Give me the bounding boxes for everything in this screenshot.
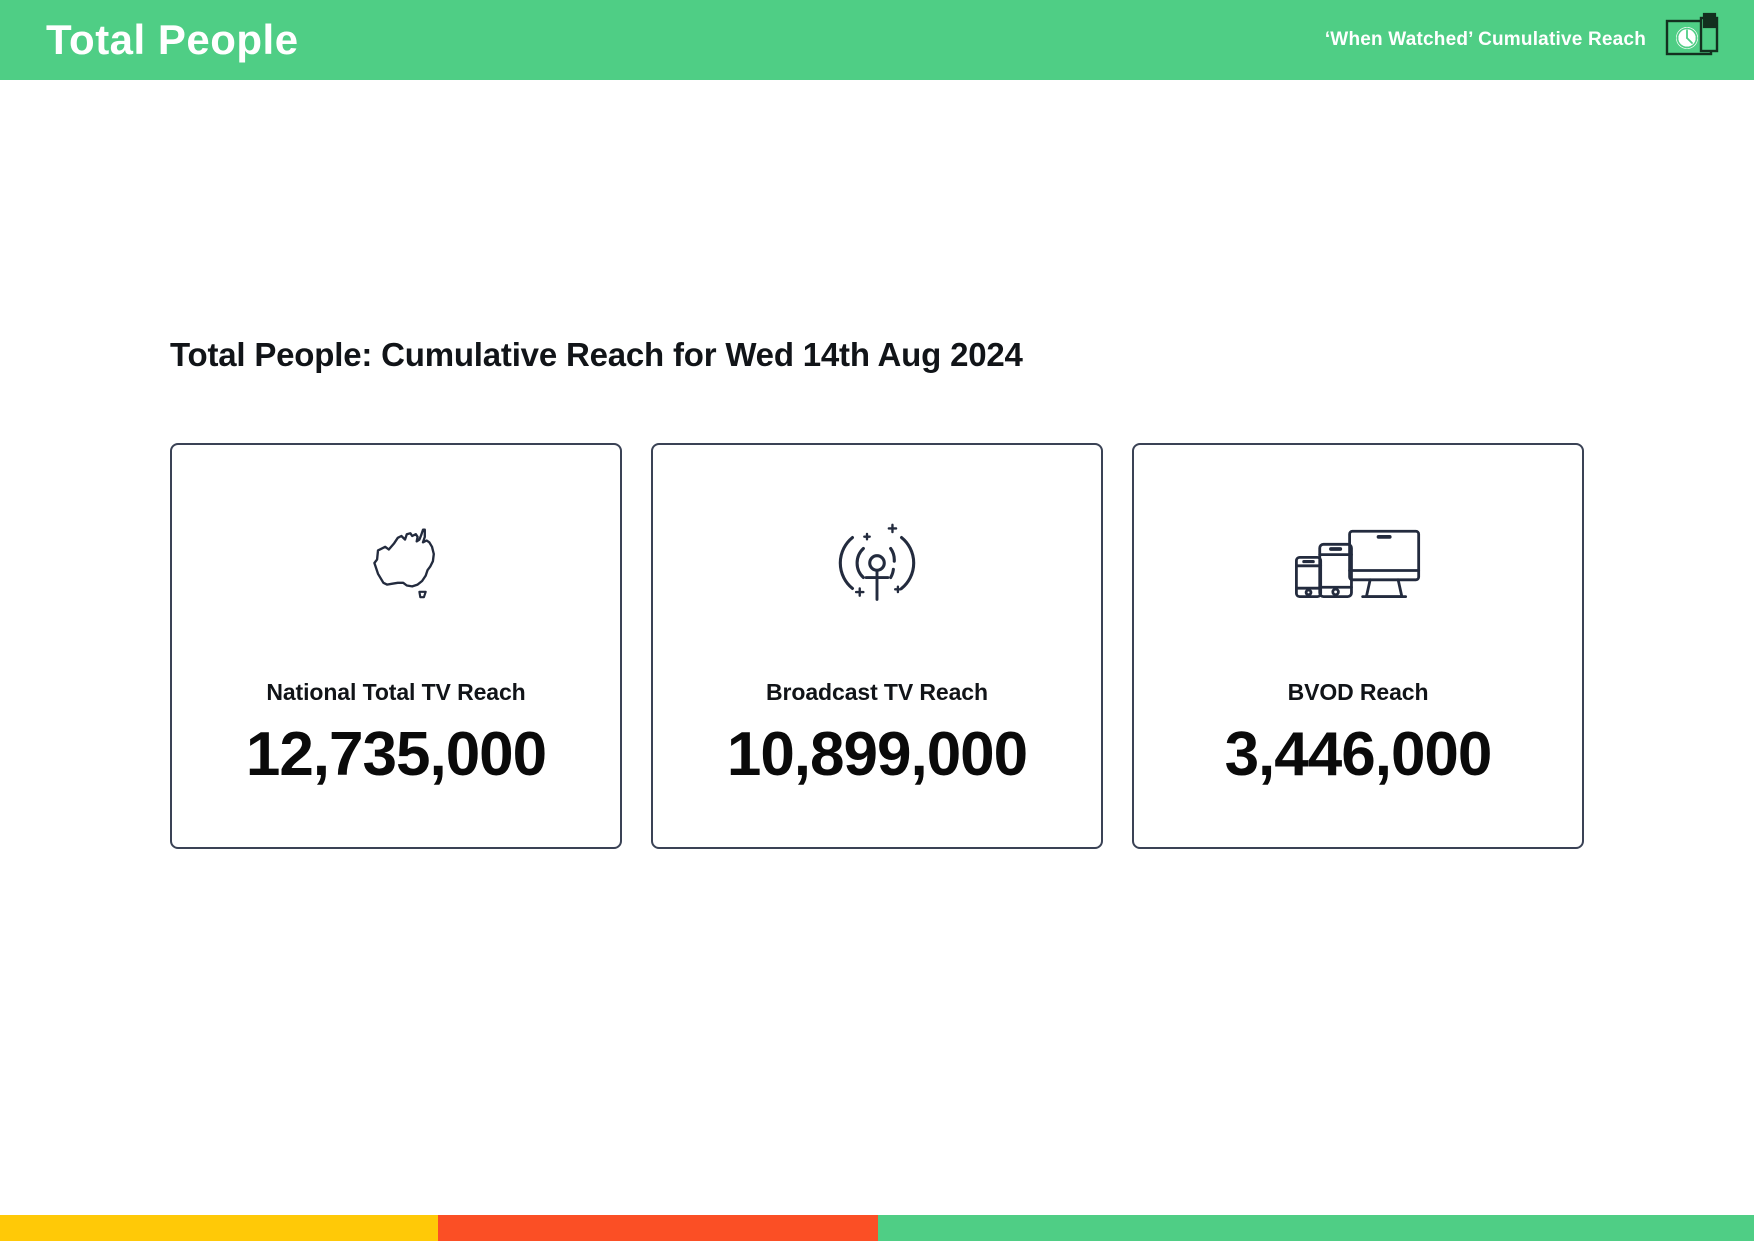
header-subtitle: ‘When Watched’ Cumulative Reach	[1325, 29, 1646, 51]
australia-map-icon	[342, 511, 450, 615]
metric-card-label: National Total TV Reach	[266, 679, 525, 706]
header-bar: Total People ‘When Watched’ Cumulative R…	[0, 0, 1754, 80]
metric-card-bvod[interactable]: BVOD Reach 3,446,000	[1132, 443, 1584, 849]
page-title: Total People	[46, 19, 299, 61]
metric-card-value: 10,899,000	[727, 722, 1027, 787]
footer-color-bar	[0, 1215, 1754, 1241]
metric-card-broadcast-tv[interactable]: Broadcast TV Reach 10,899,000	[651, 443, 1103, 849]
broadcast-signal-icon	[827, 511, 927, 615]
footer-segment-green	[878, 1215, 1754, 1241]
metric-card-row: National Total TV Reach 12,735,000	[170, 443, 1584, 849]
footer-segment-yellow	[0, 1215, 438, 1241]
metric-card-value: 3,446,000	[1225, 722, 1492, 787]
tv-clock-devices-logo-icon	[1664, 12, 1728, 68]
multi-device-icon	[1288, 511, 1428, 615]
metric-card-label: Broadcast TV Reach	[766, 679, 988, 706]
metric-card-national-total-tv[interactable]: National Total TV Reach 12,735,000	[170, 443, 622, 849]
slide-root: Total People ‘When Watched’ Cumulative R…	[0, 0, 1754, 1241]
header-right-group: ‘When Watched’ Cumulative Reach	[1325, 12, 1728, 68]
metric-card-value: 12,735,000	[246, 722, 546, 787]
metric-card-label: BVOD Reach	[1288, 679, 1429, 706]
section-title: Total People: Cumulative Reach for Wed 1…	[170, 336, 1023, 374]
footer-segment-orange	[438, 1215, 878, 1241]
